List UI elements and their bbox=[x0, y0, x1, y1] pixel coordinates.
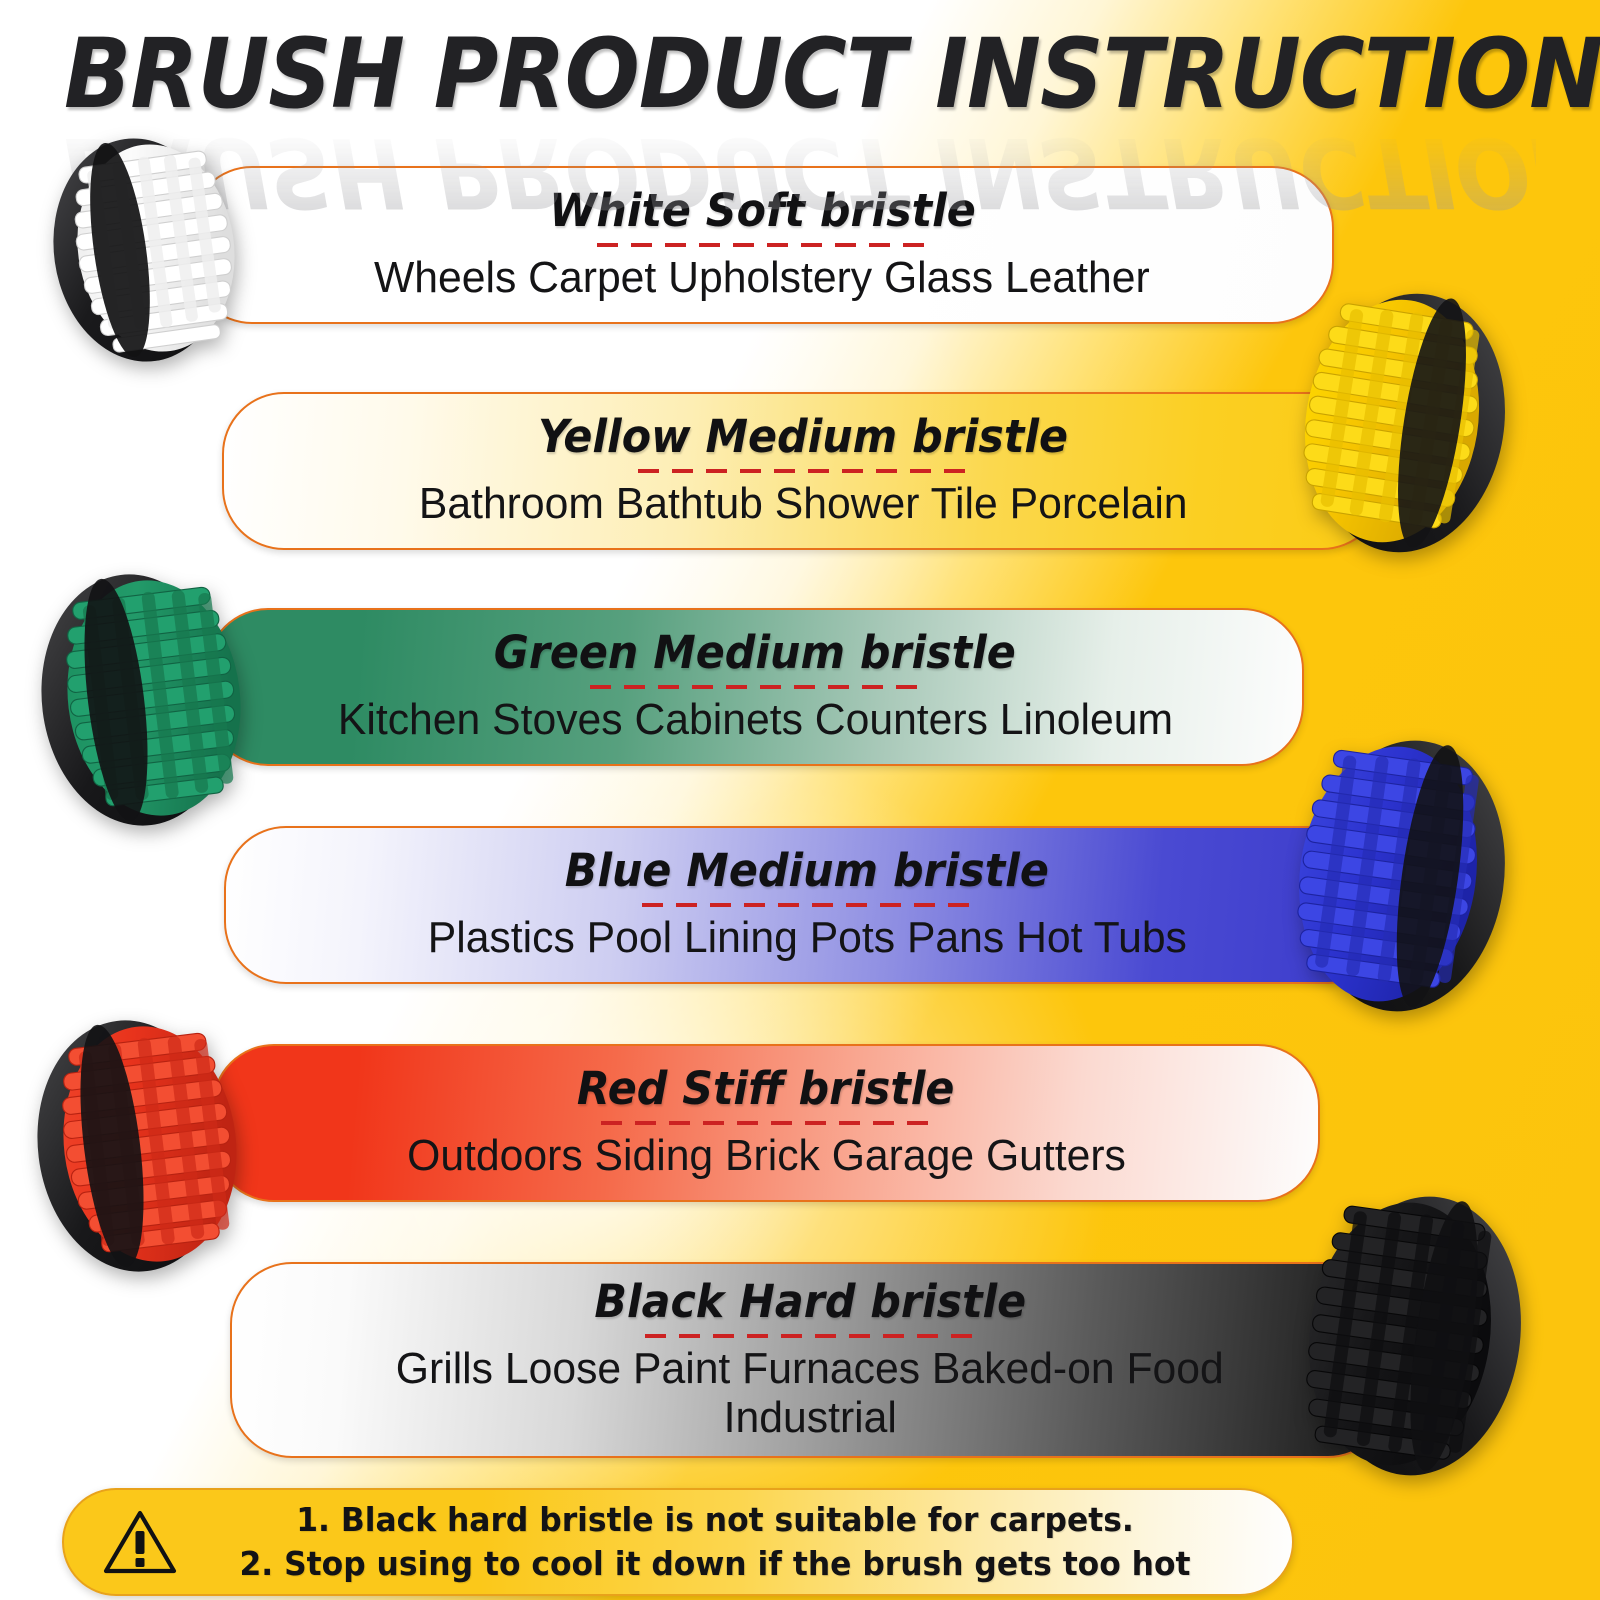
row-green-subtitle: Kitchen Stoves Cabinets Counters Linoleu… bbox=[337, 695, 1172, 744]
warning-line-2: 2. Stop using to cool it down if the bru… bbox=[205, 1542, 1225, 1586]
row-white-subtitle: Wheels Carpet Upholstery Glass Leather bbox=[374, 253, 1150, 302]
brush-image-red bbox=[18, 1012, 262, 1280]
row-red-heading: Red Stiff bristle bbox=[577, 1065, 954, 1112]
row-red-stiff[interactable]: Red Stiff bristle Outdoors Siding Brick … bbox=[212, 1044, 1320, 1202]
row-yellow-underline bbox=[638, 469, 968, 473]
row-blue-medium[interactable]: Blue Medium bristle Plastics Pool Lining… bbox=[224, 826, 1390, 984]
warning-triangle-icon bbox=[102, 1507, 178, 1577]
warning-line-1: 1. Black hard bristle is not suitable fo… bbox=[205, 1498, 1225, 1542]
row-blue-underline bbox=[642, 903, 972, 907]
brush-image-yellow bbox=[1280, 282, 1518, 564]
poster-root: BRUSH PRODUCT INSTRUCTION BRUSH PRODUCT … bbox=[0, 0, 1600, 1600]
row-red-underline bbox=[601, 1121, 931, 1125]
row-yellow-subtitle: Bathroom Bathtub Shower Tile Porcelain bbox=[419, 479, 1188, 528]
row-yellow-heading: Yellow Medium bristle bbox=[538, 413, 1068, 460]
row-blue-subtitle: Plastics Pool Lining Pots Pans Hot Tubs bbox=[427, 913, 1186, 962]
brush-image-white bbox=[28, 132, 258, 368]
brush-image-blue bbox=[1272, 728, 1520, 1020]
row-blue-heading: Blue Medium bristle bbox=[565, 847, 1049, 894]
row-black-hard[interactable]: Black Hard bristle Grills Loose Paint Fu… bbox=[230, 1262, 1390, 1458]
row-black-underline bbox=[645, 1334, 975, 1338]
brush-image-green bbox=[20, 566, 264, 834]
row-black-heading: Black Hard bristle bbox=[594, 1278, 1026, 1325]
row-yellow-medium[interactable]: Yellow Medium bristle Bathroom Bathtub S… bbox=[222, 392, 1384, 550]
row-black-subtitle-line2: Industrial bbox=[723, 1393, 896, 1442]
row-green-underline bbox=[590, 685, 920, 689]
row-red-subtitle: Outdoors Siding Brick Garage Gutters bbox=[407, 1131, 1126, 1180]
row-white-underline bbox=[597, 243, 927, 247]
row-black-subtitle: Grills Loose Paint Furnaces Baked-on Foo… bbox=[396, 1344, 1224, 1393]
warning-text-block: 1. Black hard bristle is not suitable fo… bbox=[178, 1498, 1292, 1586]
page-title: BRUSH PRODUCT INSTRUCTION bbox=[64, 26, 1536, 122]
page-title-reflection: BRUSH PRODUCT INSTRUCTION bbox=[64, 124, 1536, 220]
row-green-medium[interactable]: Green Medium bristle Kitchen Stoves Cabi… bbox=[206, 608, 1304, 766]
brush-image-black bbox=[1282, 1184, 1534, 1484]
row-green-heading: Green Medium bristle bbox=[494, 629, 1016, 676]
warning-banner[interactable]: 1. Black hard bristle is not suitable fo… bbox=[62, 1488, 1294, 1596]
